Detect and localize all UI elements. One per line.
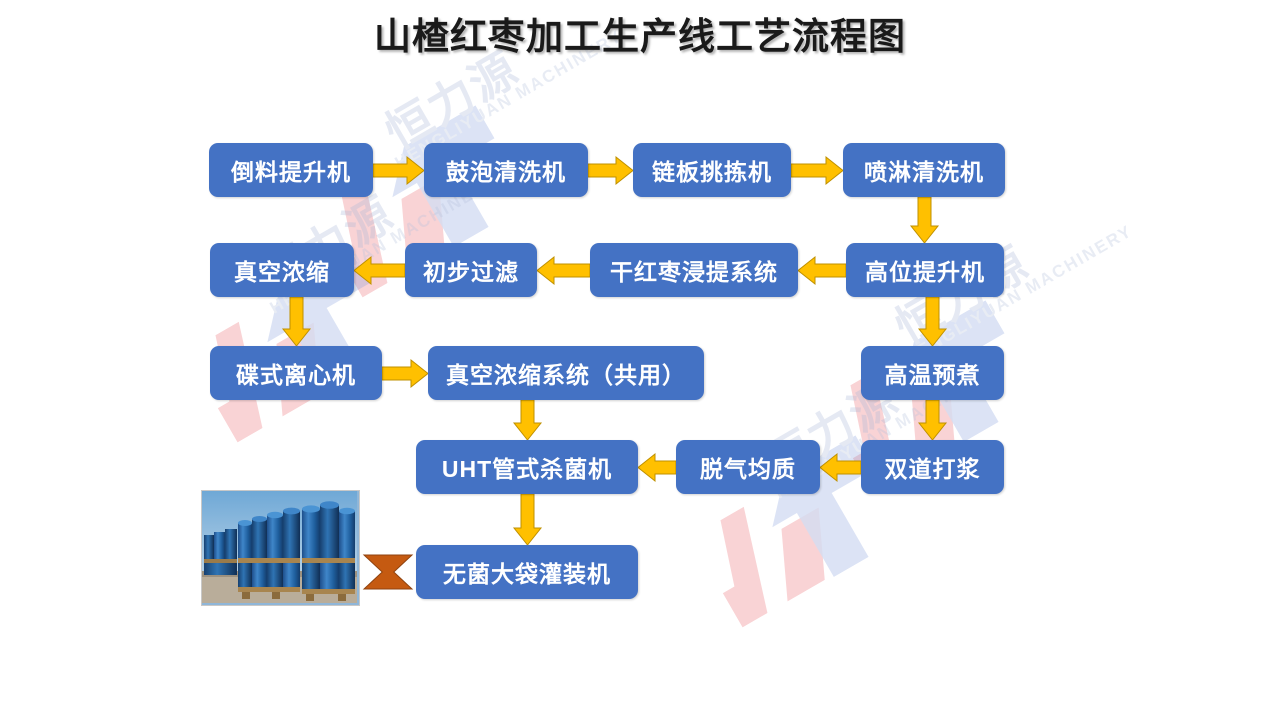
watermark-logo-mark-red (691, 489, 826, 627)
flow-node-label: 初步过滤 (423, 253, 519, 287)
arrow-n2-to-n3 (588, 157, 633, 184)
flow-node-label: 鼓泡清洗机 (446, 153, 566, 187)
flow-node-label: UHT管式杀菌机 (442, 450, 612, 484)
flow-node-n15[interactable]: 无菌大袋灌装机 (416, 545, 638, 599)
flow-node-label: 碟式离心机 (236, 356, 356, 390)
arrow-n4-to-n5 (911, 197, 938, 243)
arrow-n12-to-n13 (820, 454, 861, 481)
arrow-n8-to-n9 (283, 297, 310, 346)
watermark-logo: 恒力源 HENGLIYUAN MACHINERY (148, 153, 503, 468)
flow-node-n1[interactable]: 倒料提升机 (209, 143, 373, 197)
flow-node-label: 喷淋清洗机 (864, 153, 984, 187)
arrow-n1-to-n2 (373, 157, 424, 184)
chevron-arrow-to-product-photo (364, 555, 412, 589)
flow-node-n3[interactable]: 链板挑拣机 (633, 143, 791, 197)
flow-node-label: 双道打浆 (885, 450, 981, 484)
flow-node-label: 链板挑拣机 (652, 153, 772, 187)
arrow-n5-to-n6 (798, 257, 846, 284)
flow-node-n2[interactable]: 鼓泡清洗机 (424, 143, 588, 197)
flow-node-label: 真空浓缩 (234, 253, 330, 287)
flowchart-canvas: 恒力源 HENGLIYUAN MACHINERY 恒力源 HENGLIYUAN … (0, 0, 1280, 720)
product-photo (201, 490, 360, 606)
arrow-n3-to-n4 (791, 157, 843, 184)
flow-node-label: 干红枣浸提系统 (610, 253, 778, 287)
flow-node-label: 高温预煮 (885, 356, 981, 390)
arrow-n5-to-n11 (919, 297, 946, 346)
arrow-n6-to-n7 (537, 257, 590, 284)
flow-node-label: 真空浓缩系统（共用） (446, 356, 686, 390)
flow-node-n10[interactable]: 真空浓缩系统（共用） (428, 346, 704, 400)
flow-node-n14[interactable]: UHT管式杀菌机 (416, 440, 638, 494)
flow-node-n5[interactable]: 高位提升机 (846, 243, 1004, 297)
arrow-n14-to-n15 (514, 494, 541, 545)
flow-node-n12[interactable]: 双道打浆 (861, 440, 1004, 494)
flow-node-label: 无菌大袋灌装机 (443, 555, 611, 589)
arrow-n10-to-n14 (514, 400, 541, 440)
flow-node-n7[interactable]: 初步过滤 (405, 243, 537, 297)
arrow-n9-to-n10 (382, 360, 428, 387)
flow-node-n11[interactable]: 高温预煮 (861, 346, 1004, 400)
flow-node-label: 脱气均质 (700, 450, 796, 484)
flow-node-n4[interactable]: 喷淋清洗机 (843, 143, 1005, 197)
arrow-n11-to-n12 (919, 400, 946, 440)
arrow-n13-to-n14 (638, 454, 676, 481)
flow-node-n13[interactable]: 脱气均质 (676, 440, 820, 494)
flow-node-n8[interactable]: 真空浓缩 (210, 243, 354, 297)
arrow-n7-to-n8 (354, 257, 405, 284)
flow-node-n6[interactable]: 干红枣浸提系统 (590, 243, 798, 297)
flow-node-n9[interactable]: 碟式离心机 (210, 346, 382, 400)
watermark-logo-mark-red-2 (755, 507, 852, 601)
flow-node-label: 高位提升机 (865, 253, 985, 287)
page-title: 山楂红枣加工生产线工艺流程图 (0, 6, 1280, 60)
flow-node-label: 倒料提升机 (231, 153, 351, 187)
